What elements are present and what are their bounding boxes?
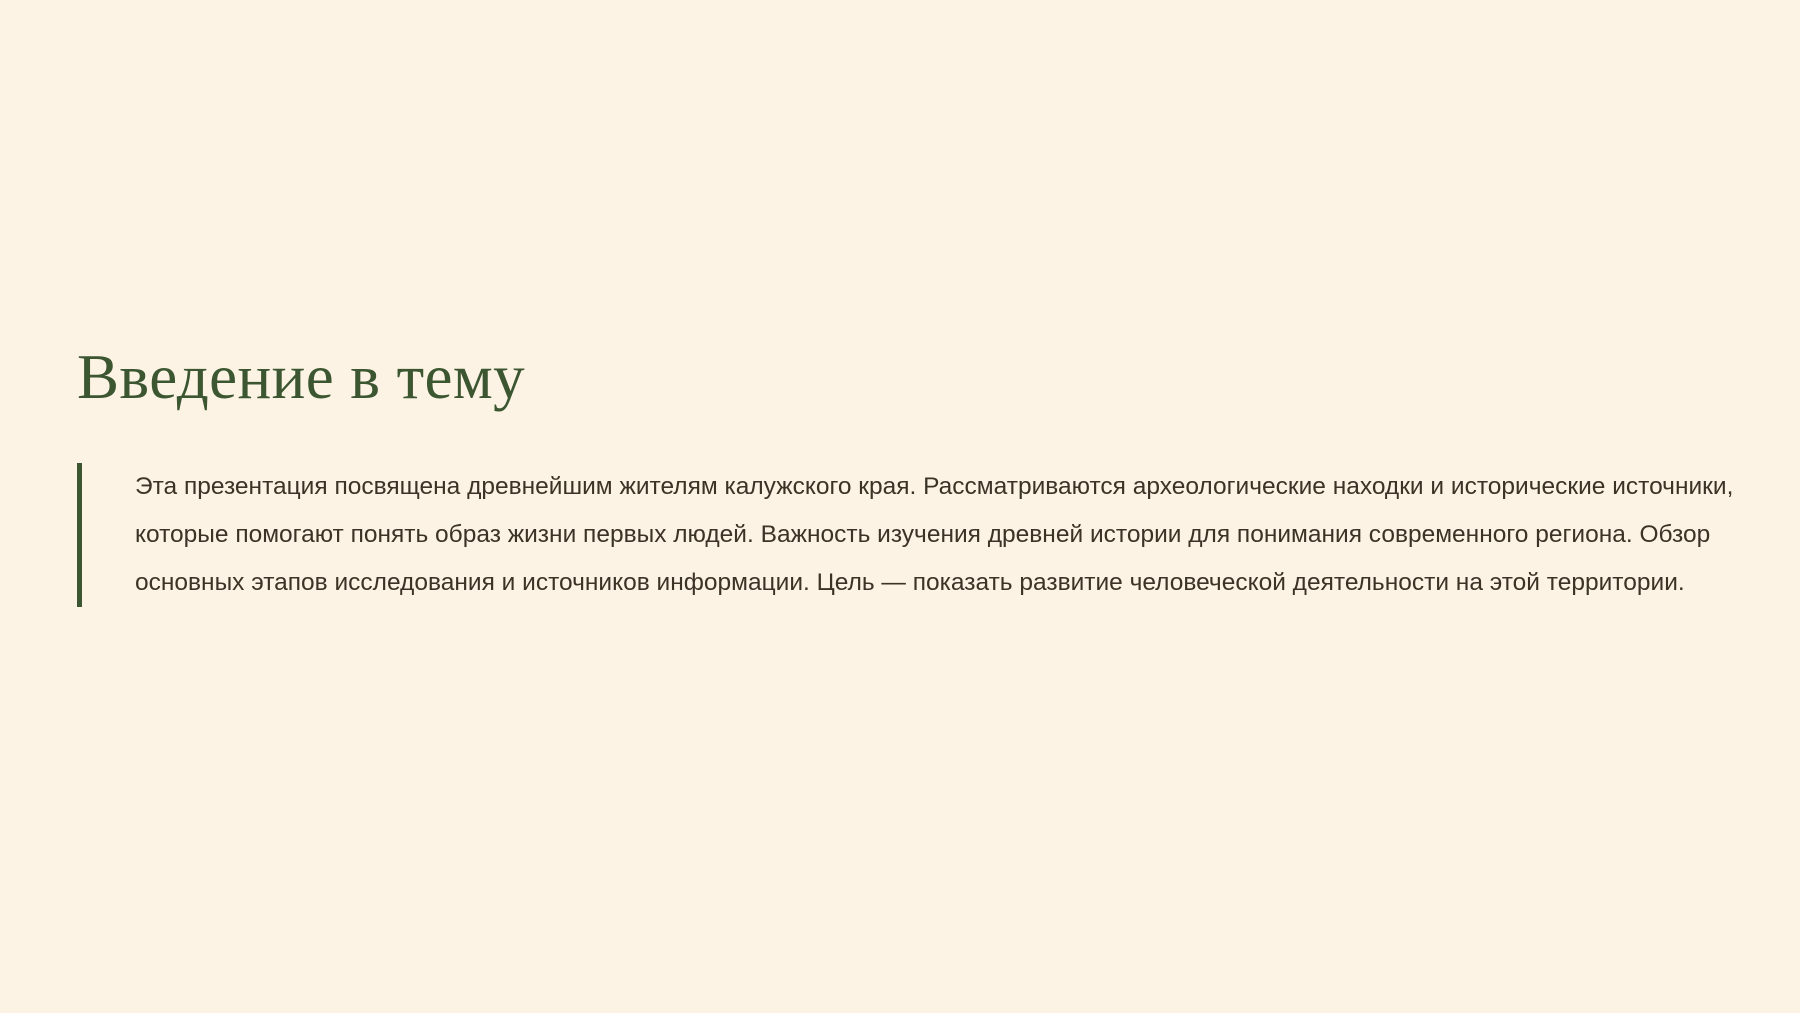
body-block: Эта презентация посвящена древнейшим жит… xyxy=(77,463,1737,607)
presentation-slide: Введение в тему Эта презентация посвящен… xyxy=(0,0,1800,1013)
page-title: Введение в тему xyxy=(77,344,525,410)
body-paragraph: Эта презентация посвящена древнейшим жит… xyxy=(82,463,1735,607)
